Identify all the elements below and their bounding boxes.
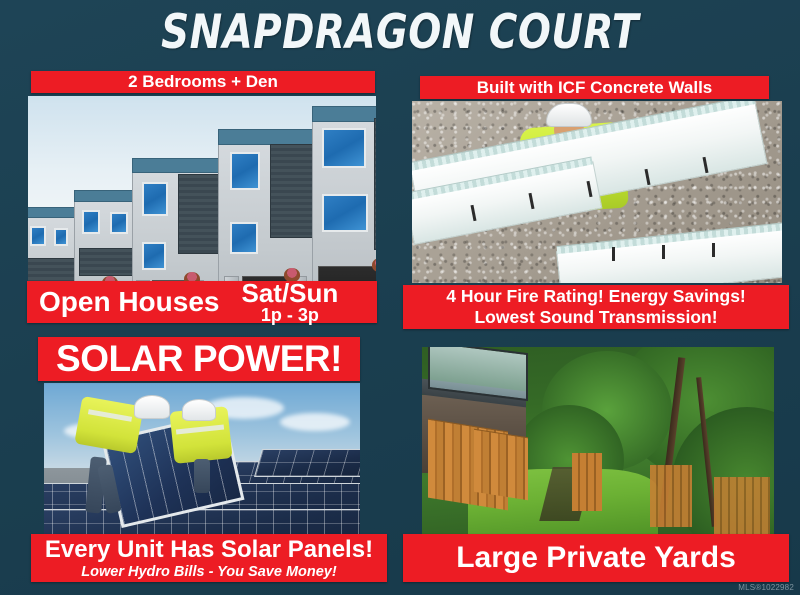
fire-rating-line-1: 4 Hour Fire Rating! Energy Savings! xyxy=(446,286,746,307)
townhouse-unit xyxy=(218,140,318,286)
icf-clip xyxy=(662,245,665,259)
banner-icf-label: Built with ICF Concrete Walls xyxy=(477,78,713,98)
siding-panel xyxy=(79,248,139,276)
window xyxy=(230,222,258,254)
window xyxy=(322,128,366,168)
solar-panel-row xyxy=(254,449,360,477)
photo-private-yard xyxy=(422,347,774,535)
banner-large-private-yards: Large Private Yards xyxy=(403,534,789,582)
window xyxy=(142,182,168,216)
banner-icf: Built with ICF Concrete Walls xyxy=(420,76,769,99)
solar-panels-line-2: Lower Hydro Bills - You Save Money! xyxy=(81,563,336,581)
banner-solar-power: SOLAR POWER! xyxy=(38,337,360,381)
window xyxy=(142,242,166,270)
window xyxy=(230,152,260,190)
window xyxy=(322,194,368,232)
siding-panel xyxy=(270,144,318,238)
solar-power-label: SOLAR POWER! xyxy=(56,338,342,380)
roof xyxy=(132,158,226,173)
banner-solar-panels: Every Unit Has Solar Panels! Lower Hydro… xyxy=(31,534,387,582)
banner-fire-rating: 4 Hour Fire Rating! Energy Savings! Lowe… xyxy=(403,285,789,329)
open-houses-hours: 1p - 3p xyxy=(241,306,338,324)
open-houses-schedule: Sat/Sun 1p - 3p xyxy=(241,280,338,324)
yards-label: Large Private Yards xyxy=(456,541,736,575)
townhouse-unit xyxy=(312,116,376,286)
worker-leg xyxy=(194,459,210,493)
cloud xyxy=(280,413,350,431)
photo-townhouse-exterior xyxy=(28,96,376,286)
photo-solar-installation xyxy=(44,383,360,535)
roof xyxy=(312,106,376,122)
window xyxy=(82,210,100,234)
open-houses-days: Sat/Sun xyxy=(241,280,338,306)
hard-hat xyxy=(546,103,592,127)
townhouse-unit xyxy=(132,168,224,286)
icf-clip xyxy=(612,247,615,261)
banner-open-houses: Open Houses Sat/Sun 1p - 3p xyxy=(27,281,377,323)
open-houses-label: Open Houses xyxy=(39,287,219,317)
solar-panels-line-1: Every Unit Has Solar Panels! xyxy=(45,536,373,563)
roof xyxy=(218,129,320,145)
cedar-fence xyxy=(572,453,602,511)
fire-rating-line-2: Lowest Sound Transmission! xyxy=(474,307,717,328)
window xyxy=(30,226,46,246)
window xyxy=(54,228,68,246)
hard-hat xyxy=(182,399,216,421)
listing-flyer: SNAPDRAGON COURT xyxy=(0,0,800,595)
cedar-fence xyxy=(474,429,528,501)
hard-hat xyxy=(134,395,170,419)
cedar-fence xyxy=(650,465,692,527)
window xyxy=(110,212,128,234)
banner-bedrooms: 2 Bedrooms + Den xyxy=(31,71,375,93)
banner-bedrooms-label: 2 Bedrooms + Den xyxy=(128,72,278,92)
siding-panel xyxy=(374,118,376,250)
page-title: SNAPDRAGON COURT xyxy=(32,4,768,62)
mls-watermark: MLS®1022982 xyxy=(738,583,794,592)
photo-icf-construction xyxy=(412,101,782,283)
solar-panel-row xyxy=(44,509,360,535)
siding-panel xyxy=(28,258,78,282)
icf-clip xyxy=(712,243,715,257)
cedar-fence xyxy=(714,477,770,535)
